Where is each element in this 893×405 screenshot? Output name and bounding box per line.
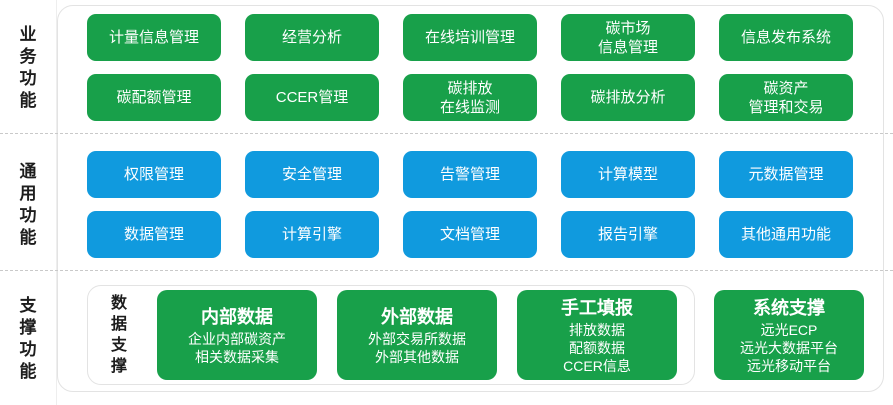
business-pill[interactable]: 信息发布系统 [719,14,853,61]
support-card-internal-data[interactable]: 内部数据 企业内部碳资产 相关数据采集 [157,290,317,380]
business-pill[interactable]: 在线培训管理 [403,14,537,61]
pill-line: 在线监测 [440,98,500,117]
common-pill[interactable]: 元数据管理 [719,151,853,198]
tier-label-char: 通 [20,161,37,183]
card-line: 相关数据采集 [195,348,279,366]
business-pill[interactable]: 计量信息管理 [87,14,221,61]
pill-line: 碳排放 [447,79,492,98]
pill-line: 碳配额管理 [116,88,191,107]
business-pill[interactable]: 碳资产 管理和交易 [719,74,853,121]
data-support-label-char: 据 [111,314,127,335]
pill-line: 经营分析 [282,28,342,47]
card-line: 外部交易所数据 [368,330,466,348]
card-line: 远光ECP [761,321,818,339]
business-pill[interactable]: 碳排放 在线监测 [403,74,537,121]
pill-line: 权限管理 [124,165,184,184]
vertical-rule-support [56,271,57,405]
pill-line: 管理和交易 [748,98,823,117]
tier-label-char: 功 [20,68,37,90]
pill-line: 信息发布系统 [741,28,831,47]
card-title: 内部数据 [201,305,273,329]
card-title: 手工填报 [561,296,633,320]
tier-label-char: 能 [20,361,37,383]
data-support-label-char: 支 [111,335,127,356]
card-line: 排放数据 [569,321,625,339]
architecture-diagram: 业 务 功 能 通 用 功 能 支 撑 功 能 计量信息管理 经营分析 在线培训… [0,0,893,405]
data-support-label: 数 据 支 撑 [102,290,136,380]
pill-line: 信息管理 [598,38,658,57]
tier-label-char: 功 [20,205,37,227]
pill-line: 计算模型 [598,165,658,184]
tier-divider-2 [0,270,893,271]
business-pill[interactable]: 碳排放分析 [561,74,695,121]
card-title: 系统支撑 [753,296,825,320]
data-support-label-char: 撑 [111,356,127,377]
tier-label-support: 支 撑 功 能 [0,285,56,392]
vertical-rule-common [56,134,57,270]
common-pill[interactable]: 安全管理 [245,151,379,198]
pill-line: 计量信息管理 [109,28,199,47]
vertical-rule-business [56,0,57,133]
support-card-system-support[interactable]: 系统支撑 远光ECP 远光大数据平台 远光移动平台 [714,290,864,380]
common-pill[interactable]: 报告引擎 [561,211,695,258]
business-pill[interactable]: 经营分析 [245,14,379,61]
tier-label-char: 能 [20,227,37,249]
tier-label-char: 用 [20,183,37,205]
common-pill[interactable]: 数据管理 [87,211,221,258]
pill-line: 碳市场 [605,19,650,38]
tier-divider-1 [0,133,893,134]
pill-line: 其他通用功能 [741,225,831,244]
support-card-external-data[interactable]: 外部数据 外部交易所数据 外部其他数据 [337,290,497,380]
card-line: CCER信息 [563,357,631,375]
common-pill[interactable]: 其他通用功能 [719,211,853,258]
pill-line: 数据管理 [124,225,184,244]
business-pill[interactable]: 碳市场 信息管理 [561,14,695,61]
support-card-manual-entry[interactable]: 手工填报 排放数据 配额数据 CCER信息 [517,290,677,380]
common-pill[interactable]: 计算模型 [561,151,695,198]
pill-line: 元数据管理 [748,165,823,184]
card-line: 企业内部碳资产 [188,330,286,348]
tier-label-char: 业 [20,24,37,46]
common-pill[interactable]: 文档管理 [403,211,537,258]
common-pill[interactable]: 计算引擎 [245,211,379,258]
pill-line: 安全管理 [282,165,342,184]
tier-label-char: 支 [20,295,37,317]
tier-label-char: 功 [20,339,37,361]
business-pill[interactable]: CCER管理 [245,74,379,121]
data-support-label-char: 数 [111,293,127,314]
pill-line: 碳资产 [763,79,808,98]
pill-line: 碳排放分析 [590,88,665,107]
pill-line: 文档管理 [440,225,500,244]
card-title: 外部数据 [381,305,453,329]
card-line: 远光大数据平台 [740,339,838,357]
tier-label-char: 务 [20,46,37,68]
card-line: 远光移动平台 [747,357,831,375]
tier-label-common: 通 用 功 能 [0,151,56,258]
pill-line: CCER管理 [276,88,349,107]
pill-line: 报告引擎 [598,225,658,244]
card-line: 配额数据 [569,339,625,357]
common-pill[interactable]: 权限管理 [87,151,221,198]
tier-label-char: 撑 [20,317,37,339]
card-line: 外部其他数据 [375,348,459,366]
business-pill[interactable]: 碳配额管理 [87,74,221,121]
pill-line: 计算引擎 [282,225,342,244]
tier-label-char: 能 [20,90,37,112]
pill-line: 在线培训管理 [425,28,515,47]
common-pill[interactable]: 告警管理 [403,151,537,198]
tier-label-business: 业 务 功 能 [0,14,56,121]
pill-line: 告警管理 [440,165,500,184]
